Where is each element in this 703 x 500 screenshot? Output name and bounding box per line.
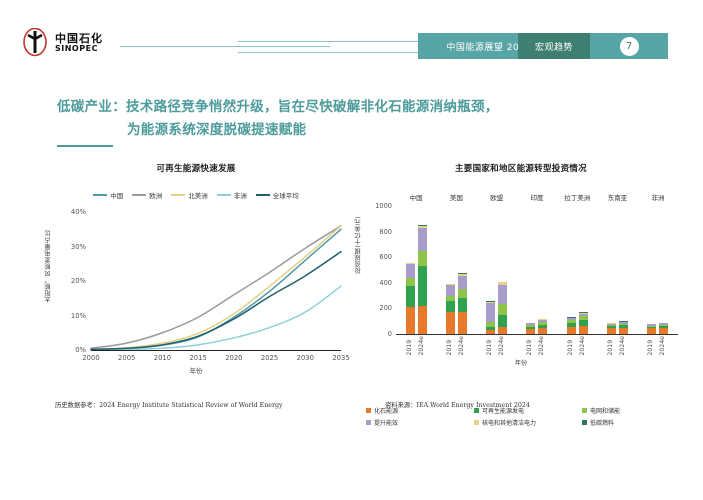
left-xtick: 2005 [118, 354, 135, 362]
slide: 中国石化 SINOPEC 中国能源展望 2060 宏观趋势 7 低碳产业：技术路… [0, 0, 703, 500]
right-legend-swatch [366, 408, 371, 413]
left-line-series [91, 252, 341, 350]
region-label-6: 非洲 [638, 192, 678, 202]
right-legend-label: 电网和储能 [590, 406, 620, 415]
chart-renewable-growth: 可再生能源快速发展 中国欧洲北美洲非洲全球平均 太阳能、风能发电量占比 0%10… [46, 162, 346, 407]
bar-group-3 [517, 206, 557, 334]
xtick-label: 2024e [458, 336, 467, 356]
left-legend-swatch [132, 194, 146, 196]
bar-segment-3 [498, 285, 507, 304]
left-chart-title: 可再生能源快速发展 [46, 162, 346, 174]
region-label-0: 中国 [396, 192, 436, 202]
logo-text-english: SINOPEC [55, 45, 103, 54]
bar-segment-0 [567, 327, 576, 334]
slide-header: 中国石化 SINOPEC 中国能源展望 2060 宏观趋势 7 [0, 0, 703, 78]
xtick-label: 2019 [486, 336, 495, 356]
xtick-label: 2019 [406, 336, 415, 356]
bar-segment-1 [406, 286, 415, 307]
bar-segment-0 [579, 326, 588, 334]
bar-segment-0 [446, 312, 455, 334]
chart-energy-transition-investment: 主要国家和地区能源转型投资情况 中国美国欧盟印度拉丁美洲东南亚非洲 投资规模(十… [356, 162, 686, 407]
left-legend-label: 全球平均 [273, 190, 299, 200]
bar-segment-1 [418, 266, 427, 307]
sinopec-logo-icon [22, 28, 48, 58]
header-chip-section[interactable]: 宏观趋势 [518, 33, 590, 59]
xtick-label: 2019 [526, 336, 535, 356]
right-legend-swatch [366, 420, 371, 425]
right-legend-label: 提升能效 [374, 418, 398, 427]
left-legend-label: 欧洲 [149, 190, 162, 200]
left-legend-item-3: 非洲 [217, 190, 247, 200]
left-legend-item-1: 欧洲 [132, 190, 162, 200]
xtick-label: 2024e [418, 336, 427, 356]
right-legend-item-3: 提升能效 [366, 418, 470, 427]
left-legend-item-0: 中国 [93, 190, 123, 200]
left-chart-plot-area: 太阳能、风能发电量占比 0%10%20%30%40% 2000200520102… [46, 210, 346, 370]
right-ytick: 800 [364, 228, 392, 236]
stacked-bar[interactable] [446, 284, 455, 334]
xtick-group-0: 20192024e [396, 336, 436, 356]
right-chart-legend: 化石能源可再生能源发电电网和储能提升能效核电和其他清洁电力低碳燃料 [366, 406, 686, 427]
left-xtick: 2015 [189, 354, 206, 362]
left-chart-source-note: 历史数据参考：2024 Energy Institute Statistical… [55, 400, 283, 409]
left-xtick: 2035 [332, 354, 349, 362]
left-line-series [91, 229, 341, 349]
right-legend-label: 核电和其他清洁电力 [482, 418, 536, 427]
right-chart-ylabel: 投资规模(十亿美元) [354, 216, 363, 273]
left-line-series [91, 226, 341, 348]
left-legend-label: 北美洲 [188, 190, 208, 200]
stacked-bar[interactable] [647, 324, 656, 334]
region-label-2: 欧盟 [477, 192, 517, 202]
left-xtick: 2030 [297, 354, 314, 362]
right-chart-plot-area: 投资规模(十亿美元) 02004006008001000 20192024e20… [356, 206, 686, 366]
right-ytick: 400 [364, 279, 392, 287]
left-line-series [91, 286, 341, 349]
right-ytick: 1000 [364, 202, 392, 210]
left-chart-xlabel: 年份 [190, 365, 203, 375]
bar-segment-3 [458, 276, 467, 289]
stacked-bar[interactable] [538, 319, 547, 334]
bar-segment-3 [446, 285, 455, 295]
right-legend-item-5: 低碳燃料 [582, 418, 686, 427]
left-legend-label: 非洲 [234, 190, 247, 200]
xtick-label: 2024e [498, 336, 507, 356]
right-chart-xaxis-line [396, 334, 678, 335]
xtick-group-5: 20192024e [597, 336, 637, 356]
sinopec-logo: 中国石化 SINOPEC [22, 28, 103, 58]
xtick-label: 2024e [579, 336, 588, 356]
xtick-label: 2024e [538, 336, 547, 356]
left-chart-xaxis-line [91, 350, 341, 351]
region-label-1: 美国 [436, 192, 476, 202]
xtick-label: 2019 [446, 336, 455, 356]
bar-segment-2 [418, 251, 427, 265]
right-ytick: 200 [364, 304, 392, 312]
left-legend-swatch [217, 194, 231, 196]
stacked-bar[interactable] [458, 273, 467, 334]
left-legend-label: 中国 [110, 190, 123, 200]
bar-segment-1 [498, 315, 507, 326]
left-legend-item-2: 北美洲 [171, 190, 208, 200]
right-legend-swatch [474, 420, 479, 425]
left-legend-swatch [93, 194, 107, 196]
xtick-group-3: 20192024e [517, 336, 557, 356]
right-chart-source-note: 资料来源：IEA World Energy Investment 2024 [385, 400, 530, 409]
right-legend-label: 低碳燃料 [590, 418, 614, 427]
right-legend-item-4: 核电和其他清洁电力 [474, 418, 578, 427]
region-label-5: 东南亚 [597, 192, 637, 202]
right-chart-xlabel: 年份 [515, 358, 527, 367]
slide-title: 低碳产业：技术路径竞争悄然升级，旨在尽快破解非化石能源消纳瓶颈， 为能源系统深度… [57, 96, 657, 142]
left-xtick: 2010 [154, 354, 171, 362]
right-ytick: 0 [364, 330, 392, 338]
left-chart-legend: 中国欧洲北美洲非洲全球平均 [46, 190, 346, 200]
bar-group-2 [477, 206, 517, 334]
bar-group-4 [557, 206, 597, 334]
right-ytick: 600 [364, 253, 392, 261]
right-chart-title: 主要国家和地区能源转型投资情况 [356, 162, 686, 174]
logo-text-chinese: 中国石化 [55, 33, 103, 45]
header-chip-pagenum: 7 [590, 33, 668, 59]
bar-segment-2 [406, 278, 415, 286]
left-legend-swatch [256, 194, 270, 196]
bar-segment-3 [406, 264, 415, 278]
bar-segment-2 [458, 289, 467, 297]
right-chart-region-labels: 中国美国欧盟印度拉丁美洲东南亚非洲 [356, 192, 686, 202]
xtick-label: 2024e [659, 336, 668, 356]
bar-group-5 [597, 206, 637, 334]
left-xtick: 2000 [82, 354, 99, 362]
bar-group-0 [396, 206, 436, 334]
bar-segment-1 [446, 301, 455, 312]
stacked-bar[interactable] [619, 321, 628, 334]
bar-segment-1 [458, 298, 467, 312]
xtick-group-1: 20192024e [436, 336, 476, 356]
region-label-4: 拉丁美洲 [557, 192, 597, 202]
right-legend-swatch [582, 408, 587, 413]
xtick-label: 2024e [619, 336, 628, 356]
title-underline-rule [57, 145, 113, 147]
xtick-label: 2019 [607, 336, 616, 356]
stacked-bar[interactable] [579, 312, 588, 334]
left-legend-swatch [171, 194, 185, 196]
bar-group-6 [638, 206, 678, 334]
xtick-label: 2019 [647, 336, 656, 356]
bar-segment-0 [418, 306, 427, 334]
stacked-bar[interactable] [406, 263, 415, 335]
stacked-bar[interactable] [498, 282, 507, 334]
stacked-bar[interactable] [418, 225, 427, 334]
xtick-group-2: 20192024e [477, 336, 517, 356]
xtick-label: 2019 [567, 336, 576, 356]
bar-group-1 [436, 206, 476, 334]
right-legend-swatch [582, 420, 587, 425]
bar-segment-0 [458, 312, 467, 334]
bar-segment-3 [486, 303, 495, 322]
page-number-badge: 7 [620, 37, 639, 56]
stacked-bar[interactable] [526, 323, 535, 334]
stacked-bar[interactable] [607, 323, 616, 334]
header-section-label: 宏观趋势 [535, 40, 573, 53]
left-line-series [91, 226, 341, 350]
left-chart-lines [46, 210, 346, 370]
slide-title-line-1: 低碳产业：技术路径竞争悄然升级，旨在尽快破解非化石能源消纳瓶颈， [57, 96, 657, 119]
stacked-bar[interactable] [486, 301, 495, 334]
stacked-bar[interactable] [659, 323, 668, 334]
slide-title-line-2: 为能源系统深度脱碳提速赋能 [57, 119, 657, 142]
left-xtick: 2020 [225, 354, 242, 362]
xtick-group-4: 20192024e [557, 336, 597, 356]
bar-segment-2 [498, 304, 507, 316]
left-xtick: 2025 [261, 354, 278, 362]
left-legend-item-4: 全球平均 [256, 190, 299, 200]
region-label-3: 印度 [517, 192, 557, 202]
stacked-bar[interactable] [567, 317, 576, 334]
right-chart-xticks: 20192024e20192024e20192024e20192024e2019… [396, 336, 678, 356]
right-chart-bars [396, 206, 678, 334]
bar-segment-3 [418, 228, 427, 251]
bar-segment-0 [406, 307, 415, 334]
right-legend-item-2: 电网和储能 [582, 406, 686, 415]
bar-segment-0 [498, 327, 507, 334]
xtick-group-6: 20192024e [638, 336, 678, 356]
